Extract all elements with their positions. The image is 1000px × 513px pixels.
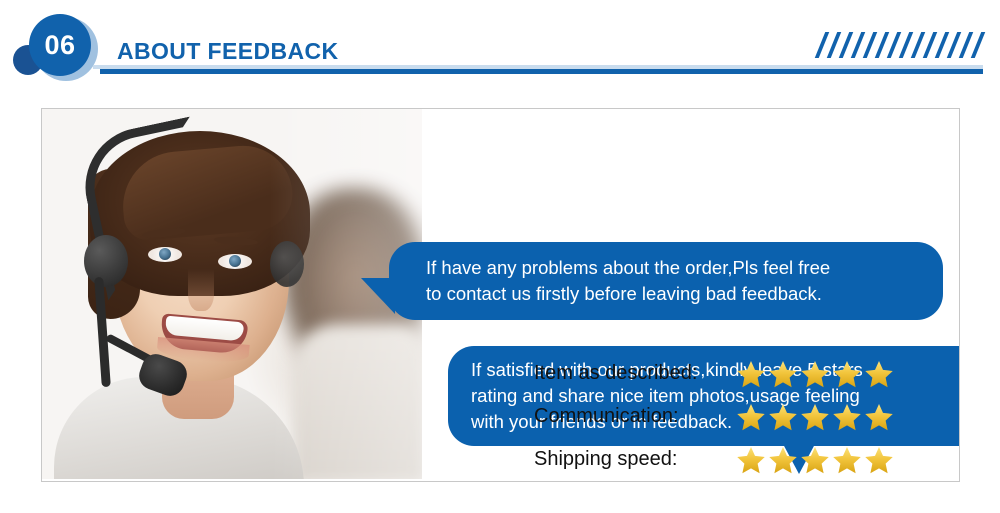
rating-stars-shipping-speed bbox=[736, 445, 894, 475]
rating-label-shipping-speed: Shipping speed: bbox=[534, 448, 730, 471]
star-icon bbox=[832, 445, 862, 475]
header-rule-dark bbox=[100, 69, 983, 74]
star-icon bbox=[768, 402, 798, 432]
rating-stars-item-as-described bbox=[736, 359, 894, 389]
headset-earpiece-left bbox=[84, 235, 128, 287]
star-icon bbox=[736, 445, 766, 475]
agent-eye-right bbox=[218, 254, 252, 269]
rating-row: Communication: bbox=[534, 395, 954, 438]
section-number-label: 06 bbox=[44, 32, 75, 59]
star-icon bbox=[864, 402, 894, 432]
star-icon bbox=[736, 359, 766, 389]
page-title: ABOUT FEEDBACK bbox=[117, 38, 339, 65]
star-icon bbox=[864, 445, 894, 475]
rating-row: Item as described: bbox=[534, 352, 954, 395]
headset-earpiece-right bbox=[270, 241, 304, 287]
star-icon bbox=[800, 359, 830, 389]
section-number-badge: 06 bbox=[29, 14, 91, 76]
star-icon bbox=[832, 402, 862, 432]
speech-bubble-order-problem: If have any problems about the order,Pls… bbox=[389, 242, 943, 320]
star-icon bbox=[768, 359, 798, 389]
star-icon bbox=[864, 359, 894, 389]
agent-teeth bbox=[165, 316, 244, 342]
star-icon bbox=[832, 359, 862, 389]
speech-bubble-tail-left bbox=[361, 278, 395, 314]
star-icon bbox=[800, 402, 830, 432]
page-header: 06 ABOUT FEEDBACK bbox=[0, 0, 1000, 95]
feedback-content-frame: If have any problems about the order,Pls… bbox=[41, 108, 960, 482]
background-colleague-body bbox=[292, 324, 422, 479]
rating-criteria-list: Item as described: Communication: Shippi… bbox=[534, 352, 954, 481]
rating-row: Shipping speed: bbox=[534, 438, 954, 481]
rating-label-communication: Communication: bbox=[534, 405, 730, 428]
header-slash-decoration bbox=[820, 32, 980, 60]
star-icon bbox=[768, 445, 798, 475]
star-icon bbox=[800, 445, 830, 475]
star-icon bbox=[736, 402, 766, 432]
rating-label-item-as-described: Item as described: bbox=[534, 362, 730, 385]
speech-bubble-order-problem-text: If have any problems about the order,Pls… bbox=[426, 255, 921, 307]
rating-stars-communication bbox=[736, 402, 894, 432]
